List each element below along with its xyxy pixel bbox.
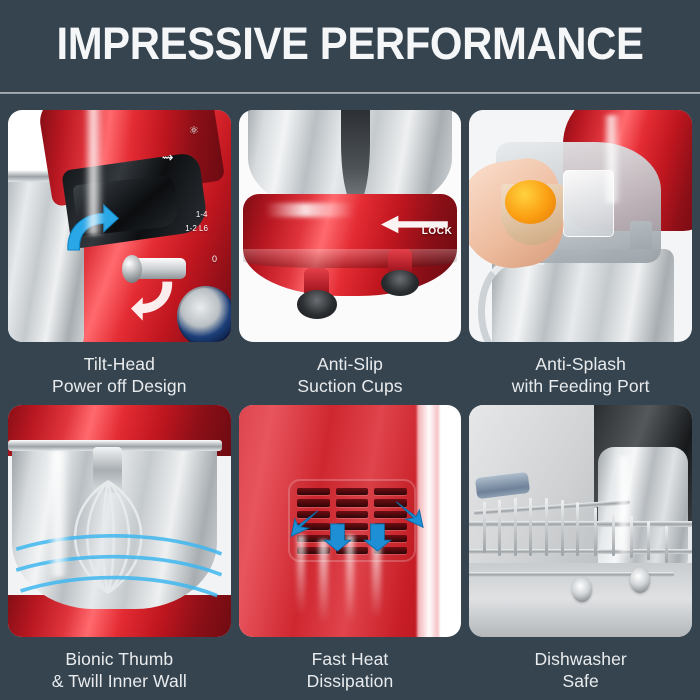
feature-card-dishwasher-safe[interactable]: Dishwasher Safe bbox=[469, 405, 692, 694]
feature-image-anti-splash bbox=[469, 110, 692, 342]
feature-caption-bionic-thumb: Bionic Thumb & Twill Inner Wall bbox=[8, 648, 231, 692]
rack-tine bbox=[514, 498, 517, 556]
feature-image-heat-dissipation bbox=[239, 405, 462, 637]
caption-line-1: Dishwasher bbox=[534, 649, 626, 669]
feature-card-anti-slip[interactable]: LOCK Anti-Slip Suction Cups bbox=[239, 110, 462, 399]
rack-tine bbox=[561, 500, 564, 556]
rack-tine bbox=[483, 502, 486, 553]
rack-tine bbox=[576, 502, 579, 555]
bowl-handle bbox=[478, 258, 550, 342]
caption-line-1: Bionic Thumb bbox=[65, 649, 173, 669]
lever-rotate-arrow-icon bbox=[130, 277, 179, 323]
rack-tine bbox=[594, 507, 597, 556]
rack-wheel bbox=[572, 577, 592, 603]
feeding-port bbox=[563, 170, 614, 237]
caption-line-1: Fast Heat bbox=[312, 649, 389, 669]
feature-image-tilt-head: ⚛ ⇝ 1-4 1-2 L6 P 0 bbox=[8, 110, 231, 342]
suction-cup-front bbox=[297, 268, 337, 319]
feature-grid: ⚛ ⇝ 1-4 1-2 L6 P 0 bbox=[8, 110, 692, 694]
tilt-direction-arrow-icon bbox=[61, 203, 119, 254]
twill-swirl-lines bbox=[12, 526, 226, 619]
title-divider bbox=[0, 92, 700, 94]
rack-wheel bbox=[630, 567, 650, 593]
egg-yolk bbox=[505, 180, 556, 224]
speed-mark-0: 0 bbox=[212, 254, 217, 264]
feature-card-bionic-thumb[interactable]: Bionic Thumb & Twill Inner Wall bbox=[8, 405, 231, 694]
caption-line-2: Safe bbox=[469, 670, 692, 692]
rack-bar bbox=[469, 549, 692, 555]
caption-line-2: Suction Cups bbox=[239, 375, 462, 397]
speed-mark-1-4: 1-4 bbox=[196, 210, 208, 219]
feature-card-heat-dissipation[interactable]: Fast Heat Dissipation bbox=[239, 405, 462, 694]
feature-image-bionic-thumb bbox=[8, 405, 231, 637]
rack-tine bbox=[498, 500, 501, 556]
rack-tine bbox=[529, 498, 532, 556]
rack-tine bbox=[647, 521, 650, 560]
caption-line-1: Tilt-Head bbox=[84, 354, 155, 374]
feature-image-anti-slip: LOCK bbox=[239, 110, 462, 342]
mixer-base bbox=[243, 194, 457, 296]
caption-line-2: Dissipation bbox=[239, 670, 462, 692]
caption-line-2: with Feeding Port bbox=[469, 375, 692, 397]
airflow-arrow-left-icon bbox=[288, 507, 319, 539]
feature-infographic: IMPRESSIVE PERFORMANCE ⚛ ⇝ bbox=[0, 0, 700, 700]
attachment-icon-group: ⚛ ⇝ bbox=[151, 119, 231, 198]
airflow-arrow-right-icon bbox=[395, 498, 426, 530]
feature-card-tilt-head[interactable]: ⚛ ⇝ 1-4 1-2 L6 P 0 bbox=[8, 110, 231, 399]
feature-caption-heat-dissipation: Fast Heat Dissipation bbox=[239, 648, 462, 692]
rack-tine bbox=[665, 526, 668, 563]
whisk-icon: ⚛ bbox=[189, 124, 199, 137]
airflow-arrow-down-left-icon bbox=[323, 521, 352, 553]
feature-caption-tilt-head: Tilt-Head Power off Design bbox=[8, 353, 231, 397]
rack-tine bbox=[612, 512, 615, 556]
feature-caption-dishwasher-safe: Dishwasher Safe bbox=[469, 648, 692, 692]
dough-hook-icon: ⇝ bbox=[162, 149, 174, 166]
feature-caption-anti-splash: Anti-Splash with Feeding Port bbox=[469, 353, 692, 397]
page-title: IMPRESSIVE PERFORMANCE bbox=[25, 18, 676, 70]
suction-cup-rear bbox=[381, 249, 419, 295]
rack-tine bbox=[630, 516, 633, 558]
airflow-arrow-down-right-icon bbox=[363, 521, 392, 553]
caption-line-1: Anti-Slip bbox=[317, 354, 383, 374]
caption-line-1: Anti-Splash bbox=[535, 354, 626, 374]
speed-mark-1-2-l6: 1-2 L6 bbox=[185, 224, 208, 233]
feature-card-anti-splash[interactable]: Anti-Splash with Feeding Port bbox=[469, 110, 692, 399]
lock-label: LOCK bbox=[422, 226, 453, 237]
caption-line-2: Power off Design bbox=[8, 375, 231, 397]
heat-streak bbox=[297, 535, 306, 614]
rack-tine bbox=[545, 498, 548, 556]
speed-dial[interactable] bbox=[177, 286, 230, 342]
feature-image-dishwasher-safe bbox=[469, 405, 692, 637]
header: IMPRESSIVE PERFORMANCE bbox=[0, 0, 700, 96]
base-lip bbox=[243, 249, 457, 268]
rack-bar bbox=[469, 521, 692, 527]
caption-line-2: & Twill Inner Wall bbox=[8, 670, 231, 692]
feature-caption-anti-slip: Anti-Slip Suction Cups bbox=[239, 353, 462, 397]
